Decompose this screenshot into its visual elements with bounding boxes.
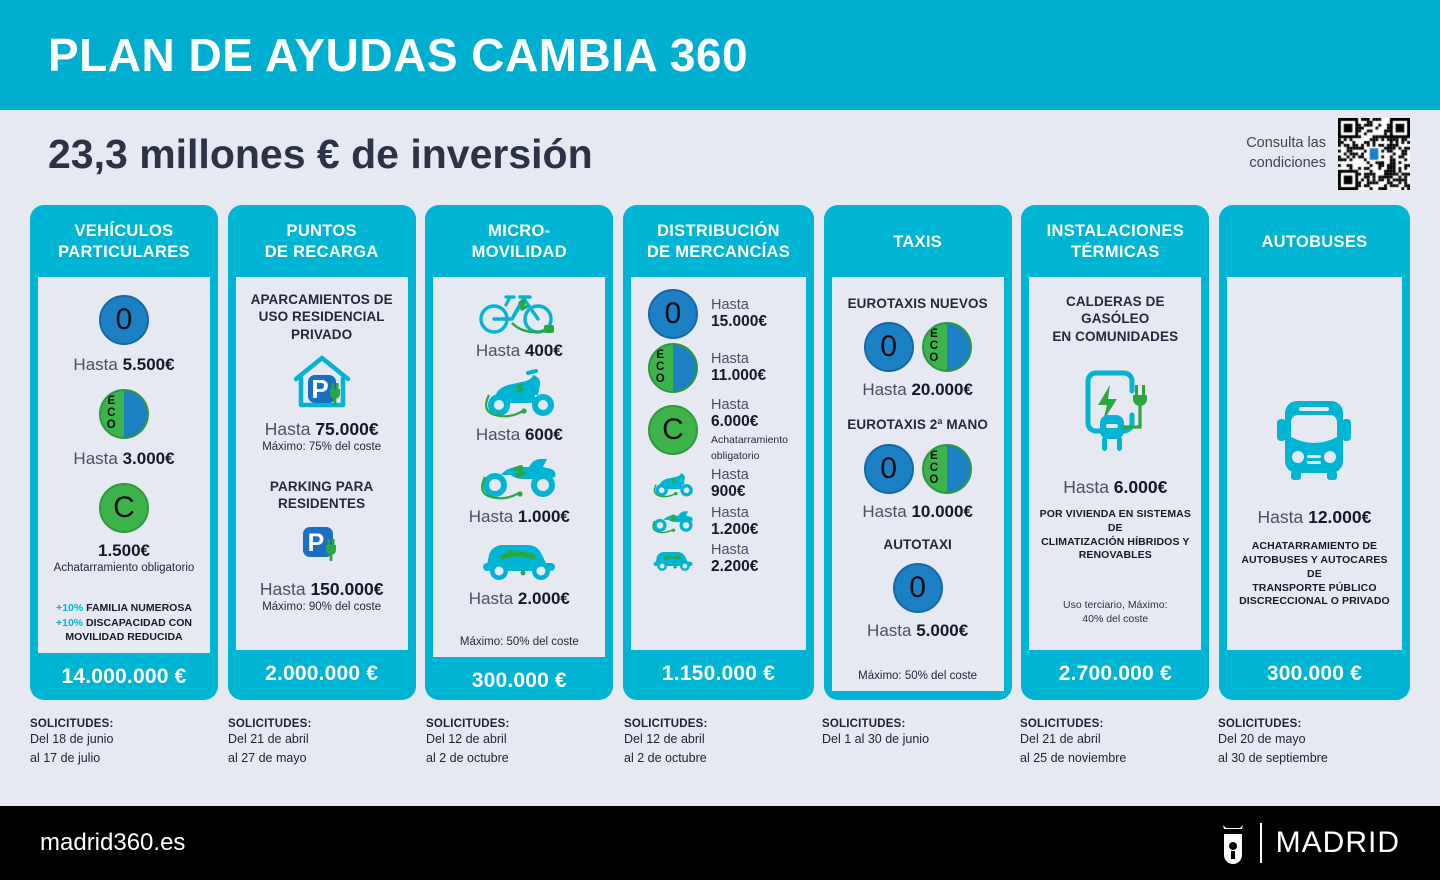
group-subtitle: AUTOTAXI bbox=[883, 536, 952, 553]
column-distribucion-de-mercancias[interactable]: DISTRIBUCIÓN DE MERCANCÍAS 0 Hasta 15.00… bbox=[623, 205, 814, 700]
amount-prefix: Hasta bbox=[469, 507, 518, 526]
madrid-coat-of-arms-icon bbox=[1220, 821, 1246, 865]
dates-micro-movilidad: SOLICITUDES: Del 12 de abril al 2 de oct… bbox=[426, 718, 624, 798]
amount-eurotaxis-segunda-mano: Hasta 10.000€ bbox=[862, 502, 973, 522]
amount-motocicleta: Hasta 1.000€ bbox=[469, 507, 570, 527]
dates-distribucion-de-mercancias: SOLICITUDES: Del 12 de abril al 2 de oct… bbox=[624, 718, 822, 798]
column-body: APARCAMIENTOS DE USO RESIDENCIAL PRIVADO… bbox=[236, 277, 408, 650]
row-zero: 0 Hasta 15.000€ bbox=[639, 289, 798, 339]
amount-value: 2.000€ bbox=[518, 589, 570, 608]
electric-scooter-icon bbox=[473, 369, 565, 419]
bus-icon bbox=[1269, 397, 1359, 485]
amount-prefix: Hasta bbox=[711, 397, 749, 413]
amount-prefix: Hasta bbox=[711, 505, 749, 521]
amount-autotaxi: Hasta 5.000€ bbox=[867, 621, 968, 641]
note-achatarramiento: Achatarramiento obligatorio bbox=[54, 561, 195, 575]
column-micro-movilidad[interactable]: MICRO- MOVILIDAD Hasta 400€ bbox=[425, 205, 613, 700]
bonus-block: +10% FAMILIA NUMEROSA +10% DISCAPACIDAD … bbox=[46, 601, 202, 644]
label-zero-badge: 0 bbox=[99, 295, 149, 345]
amount-prefix: Hasta bbox=[711, 297, 749, 313]
electric-motorbike-icon bbox=[647, 506, 699, 536]
amount-prefix: Hasta bbox=[711, 351, 749, 367]
column-body: EUROTAXIS NUEVOS 0 ECO Hasta 20.000€ EUR… bbox=[832, 277, 1004, 691]
note-maximo-90: Máximo: 90% del coste bbox=[262, 600, 381, 614]
dates-instalaciones-termicas: SOLICITUDES: Del 21 de abril al 25 de no… bbox=[1020, 718, 1218, 798]
svg-text:P: P bbox=[311, 374, 328, 404]
amount-value: 5.500€ bbox=[123, 355, 175, 374]
qr-label: Consulta las condiciones bbox=[1246, 134, 1326, 173]
row-amount: Hasta 11.000€ bbox=[711, 351, 766, 385]
boiler-plug-icon bbox=[1072, 367, 1158, 457]
applications-label: SOLICITUDES: bbox=[624, 718, 822, 730]
footnote-maximo: Máximo: 50% del coste bbox=[858, 669, 977, 683]
amount-value: 600€ bbox=[525, 425, 563, 444]
svg-text:P: P bbox=[307, 529, 324, 557]
amount-prefix: Hasta bbox=[73, 355, 122, 374]
row-scooter: Hasta 900€ bbox=[639, 467, 798, 501]
amount-value: 900€ bbox=[711, 483, 749, 500]
applications-label: SOLICITUDES: bbox=[1020, 718, 1218, 730]
bonus-pct: +10% bbox=[56, 617, 83, 629]
column-vehiculos-particulares[interactable]: VEHÍCULOS PARTICULARES 0 Hasta 5.500€ EC… bbox=[30, 205, 218, 700]
applications-dates: Del 18 de junio al 17 de julio bbox=[30, 730, 228, 768]
amount-value: 1.500€ bbox=[98, 541, 150, 560]
column-total: 300.000 € bbox=[425, 657, 613, 700]
column-title: INSTALACIONES TÉRMICAS bbox=[1021, 205, 1209, 277]
amount-prefix: Hasta bbox=[711, 467, 749, 483]
amount-ciclomotor: Hasta 600€ bbox=[476, 425, 563, 445]
column-total: 14.000.000 € bbox=[30, 653, 218, 700]
amount-prefix: Hasta bbox=[862, 380, 911, 399]
amount-value: 20.000€ bbox=[911, 380, 972, 399]
column-body: CALDERAS DE GASÓLEO EN COMUNIDADES bbox=[1029, 277, 1201, 650]
bonus-pct: +10% bbox=[56, 602, 83, 614]
column-total: 2.000.000 € bbox=[228, 650, 416, 700]
row-car: Hasta 2.200€ bbox=[639, 542, 798, 576]
column-body: Hasta 12.000€ ACHATARRAMIENTO DE AUTOBUS… bbox=[1227, 277, 1402, 650]
label-c-badge: C bbox=[647, 405, 699, 455]
column-instalaciones-termicas[interactable]: INSTALACIONES TÉRMICAS CALDERAS DE GASÓL… bbox=[1021, 205, 1209, 700]
amount-eurotaxis-nuevos: Hasta 20.000€ bbox=[862, 380, 973, 400]
amount-calderas: Hasta 6.000€ bbox=[1063, 477, 1167, 498]
applications-dates-strip: SOLICITUDES: Del 18 de junio al 17 de ju… bbox=[0, 718, 1440, 798]
column-title: TAXIS bbox=[824, 205, 1012, 277]
column-body: Hasta 400€ Hasta 600€ bbox=[433, 277, 605, 657]
row-amount: Hasta 15.000€ bbox=[711, 297, 767, 331]
footer-bar: madrid360.es MADRID bbox=[0, 806, 1440, 880]
column-puntos-de-recarga[interactable]: PUNTOS DE RECARGA APARCAMIENTOS DE USO R… bbox=[228, 205, 416, 700]
amount-prefix: Hasta bbox=[476, 425, 525, 444]
row-eco: ECO Hasta 11.000€ bbox=[639, 343, 798, 393]
group-subtitle: EUROTAXIS NUEVOS bbox=[848, 295, 988, 312]
amount-value: 75.000€ bbox=[315, 419, 378, 439]
parking-plug-icon: P bbox=[299, 523, 345, 569]
label-zero-badge: 0 bbox=[864, 322, 914, 372]
amount-autobuses: Hasta 12.000€ bbox=[1258, 507, 1372, 528]
amount-value: 150.000€ bbox=[310, 579, 383, 599]
columns-strip: VEHÍCULOS PARTICULARES 0 Hasta 5.500€ EC… bbox=[0, 205, 1440, 700]
label-eco-badge: ECO bbox=[99, 389, 149, 439]
badge-row: 0 ECO bbox=[864, 322, 972, 372]
title-bar: PLAN DE AYUDAS CAMBIA 360 bbox=[0, 0, 1440, 110]
amount-prefix: Hasta bbox=[867, 621, 916, 640]
column-autobuses[interactable]: AUTOBUSES bbox=[1219, 205, 1410, 700]
column-body: 0 Hasta 5.500€ ECO Hasta 3.000€ C 1.500€… bbox=[38, 277, 210, 653]
row-amount: Hasta 6.000€ Achatarramiento obligatorio bbox=[711, 397, 798, 463]
label-eco-badge: ECO bbox=[922, 322, 972, 372]
dates-vehiculos-particulares: SOLICITUDES: Del 18 de junio al 17 de ju… bbox=[30, 718, 228, 798]
amount-prefix: Hasta bbox=[265, 419, 316, 439]
applications-label: SOLICITUDES: bbox=[30, 718, 228, 730]
group-subtitle: PARKING PARA RESIDENTES bbox=[270, 478, 373, 513]
row-amount: Hasta 1.200€ bbox=[711, 505, 758, 539]
note-por-vivienda: POR VIVIENDA EN SISTEMAS DE CLIMATIZACIÓ… bbox=[1037, 508, 1193, 563]
applications-dates: Del 21 de abril al 25 de noviembre bbox=[1020, 730, 1218, 768]
dates-taxis: SOLICITUDES: Del 1 al 30 de junio bbox=[822, 718, 1020, 798]
label-zero-badge: 0 bbox=[864, 444, 914, 494]
amount-value: 400€ bbox=[525, 341, 563, 360]
house-parking-plug-icon: P bbox=[290, 353, 354, 409]
row-note: Achatarramiento obligatorio bbox=[711, 434, 788, 462]
investment-subtitle: 23,3 millones € de inversión bbox=[48, 131, 593, 178]
row-amount: Hasta 900€ bbox=[711, 467, 749, 501]
qr-block[interactable]: Consulta las condiciones bbox=[1246, 118, 1410, 190]
amount-value: 1.200€ bbox=[711, 521, 758, 538]
amount-aparcamientos: Hasta 75.000€ bbox=[265, 419, 379, 440]
amount-prefix: Hasta bbox=[260, 579, 311, 599]
subhead-bar: 23,3 millones € de inversión bbox=[0, 110, 1440, 198]
label-zero-badge: 0 bbox=[893, 563, 943, 613]
amount-prefix: Hasta bbox=[476, 341, 525, 360]
amount-value: 3.000€ bbox=[123, 449, 175, 468]
electric-motorbike-icon bbox=[471, 453, 567, 501]
group-subtitle: APARCAMIENTOS DE USO RESIDENCIAL PRIVADO bbox=[251, 291, 393, 343]
column-total: 2.700.000 € bbox=[1021, 650, 1209, 700]
amount-eco: Hasta 3.000€ bbox=[73, 449, 174, 469]
column-total: 300.000 € bbox=[1219, 650, 1410, 700]
column-taxis[interactable]: TAXIS EUROTAXIS NUEVOS 0 ECO Hasta 20.00… bbox=[824, 205, 1012, 700]
applications-dates: Del 12 de abril al 2 de octubre bbox=[624, 730, 822, 768]
column-title: PUNTOS DE RECARGA bbox=[228, 205, 416, 277]
electric-car-icon bbox=[647, 545, 699, 573]
infographic-page: PLAN DE AYUDAS CAMBIA 360 23,3 millones … bbox=[0, 0, 1440, 880]
label-zero-badge: 0 bbox=[647, 289, 699, 339]
amount-prefix: Hasta bbox=[73, 449, 122, 468]
dates-autobuses: SOLICITUDES: Del 20 de mayo al 30 de sep… bbox=[1218, 718, 1416, 798]
column-title: MICRO- MOVILIDAD bbox=[425, 205, 613, 277]
row-c: C Hasta 6.000€ Achatarramiento obligator… bbox=[639, 397, 798, 463]
electric-scooter-icon bbox=[647, 468, 699, 500]
footnote-uso-terciario: Uso terciario, Máximo: 40% del coste bbox=[1063, 599, 1167, 626]
footnote-maximo: Máximo: 50% del coste bbox=[460, 635, 579, 649]
bonus-item: +10% DISCAPACIDAD CON MOVILIDAD REDUCIDA bbox=[46, 616, 202, 645]
amount-value: 1.000€ bbox=[518, 507, 570, 526]
amount-value: 2.200€ bbox=[711, 558, 758, 575]
qr-code-icon[interactable] bbox=[1338, 118, 1410, 190]
amount-value: 12.000€ bbox=[1308, 507, 1371, 527]
applications-dates: Del 20 de mayo al 30 de septiembre bbox=[1218, 730, 1416, 768]
group-subtitle: CALDERAS DE GASÓLEO EN COMUNIDADES bbox=[1037, 293, 1193, 345]
applications-dates: Del 12 de abril al 2 de octubre bbox=[426, 730, 624, 768]
applications-label: SOLICITUDES: bbox=[822, 718, 1020, 730]
applications-label: SOLICITUDES: bbox=[1218, 718, 1416, 730]
amount-value: 6.000€ bbox=[1114, 477, 1168, 497]
applications-dates: Del 21 de abril al 27 de mayo bbox=[228, 730, 426, 768]
badge-row: 0 ECO bbox=[864, 444, 972, 494]
page-title: PLAN DE AYUDAS CAMBIA 360 bbox=[48, 28, 748, 82]
amount-bicicleta: Hasta 400€ bbox=[476, 341, 563, 361]
amount-prefix: Hasta bbox=[711, 542, 749, 558]
bonus-text: FAMILIA NUMEROSA bbox=[83, 602, 192, 614]
amount-prefix: Hasta bbox=[1258, 507, 1309, 527]
group-subtitle: EUROTAXIS 2ª MANO bbox=[847, 416, 988, 433]
electric-bicycle-icon bbox=[476, 289, 562, 335]
website-link[interactable]: madrid360.es bbox=[40, 829, 185, 857]
applications-dates: Del 1 al 30 de junio bbox=[822, 730, 1020, 749]
amount-value: 5.000€ bbox=[916, 621, 968, 640]
applications-label: SOLICITUDES: bbox=[426, 718, 624, 730]
dates-puntos-de-recarga: SOLICITUDES: Del 21 de abril al 27 de ma… bbox=[228, 718, 426, 798]
note-maximo-75: Máximo: 75% del coste bbox=[262, 440, 381, 454]
eco-text: ECO bbox=[656, 350, 665, 386]
bonus-item: +10% FAMILIA NUMEROSA bbox=[46, 601, 202, 615]
amount-parking: Hasta 150.000€ bbox=[260, 579, 384, 600]
brand-divider bbox=[1260, 823, 1262, 863]
column-total: 1.150.000 € bbox=[623, 650, 814, 700]
row-motorbike: Hasta 1.200€ bbox=[639, 505, 798, 539]
column-body: 0 Hasta 15.000€ ECO Hasta 11.000€ bbox=[631, 277, 806, 650]
brand-block: MADRID bbox=[1220, 821, 1400, 865]
amount-prefix: Hasta bbox=[862, 502, 911, 521]
electric-car-icon bbox=[471, 535, 567, 581]
brand-name: MADRID bbox=[1276, 826, 1400, 860]
label-eco-badge: ECO bbox=[922, 444, 972, 494]
applications-label: SOLICITUDES: bbox=[228, 718, 426, 730]
column-total: 2.850.000 € bbox=[824, 691, 1012, 700]
note-achatarramiento-autobuses: ACHATARRAMIENTO DE AUTOBUSES Y AUTOCARES… bbox=[1235, 540, 1394, 609]
column-title: DISTRIBUCIÓN DE MERCANCÍAS bbox=[623, 205, 814, 277]
column-title: VEHÍCULOS PARTICULARES bbox=[30, 205, 218, 277]
amount-value: 6.000€ bbox=[711, 413, 798, 430]
amount-prefix: Hasta bbox=[469, 589, 518, 608]
label-eco-badge: ECO bbox=[647, 343, 699, 393]
column-title: AUTOBUSES bbox=[1219, 205, 1410, 277]
label-c-badge: C bbox=[99, 483, 149, 533]
amount-zero: Hasta 5.500€ bbox=[73, 355, 174, 375]
amount-prefix: Hasta bbox=[1063, 477, 1114, 497]
amount-value: 15.000€ bbox=[711, 313, 767, 330]
amount-value: 11.000€ bbox=[711, 367, 766, 384]
amount-cuadriciclo: Hasta 2.000€ bbox=[469, 589, 570, 609]
bonus-text: DISCAPACIDAD CON MOVILIDAD REDUCIDA bbox=[65, 617, 192, 643]
row-amount: Hasta 2.200€ bbox=[711, 542, 758, 576]
eco-text: ECO bbox=[107, 396, 116, 432]
amount-value: 10.000€ bbox=[911, 502, 972, 521]
amount-c: 1.500€ bbox=[98, 541, 150, 561]
